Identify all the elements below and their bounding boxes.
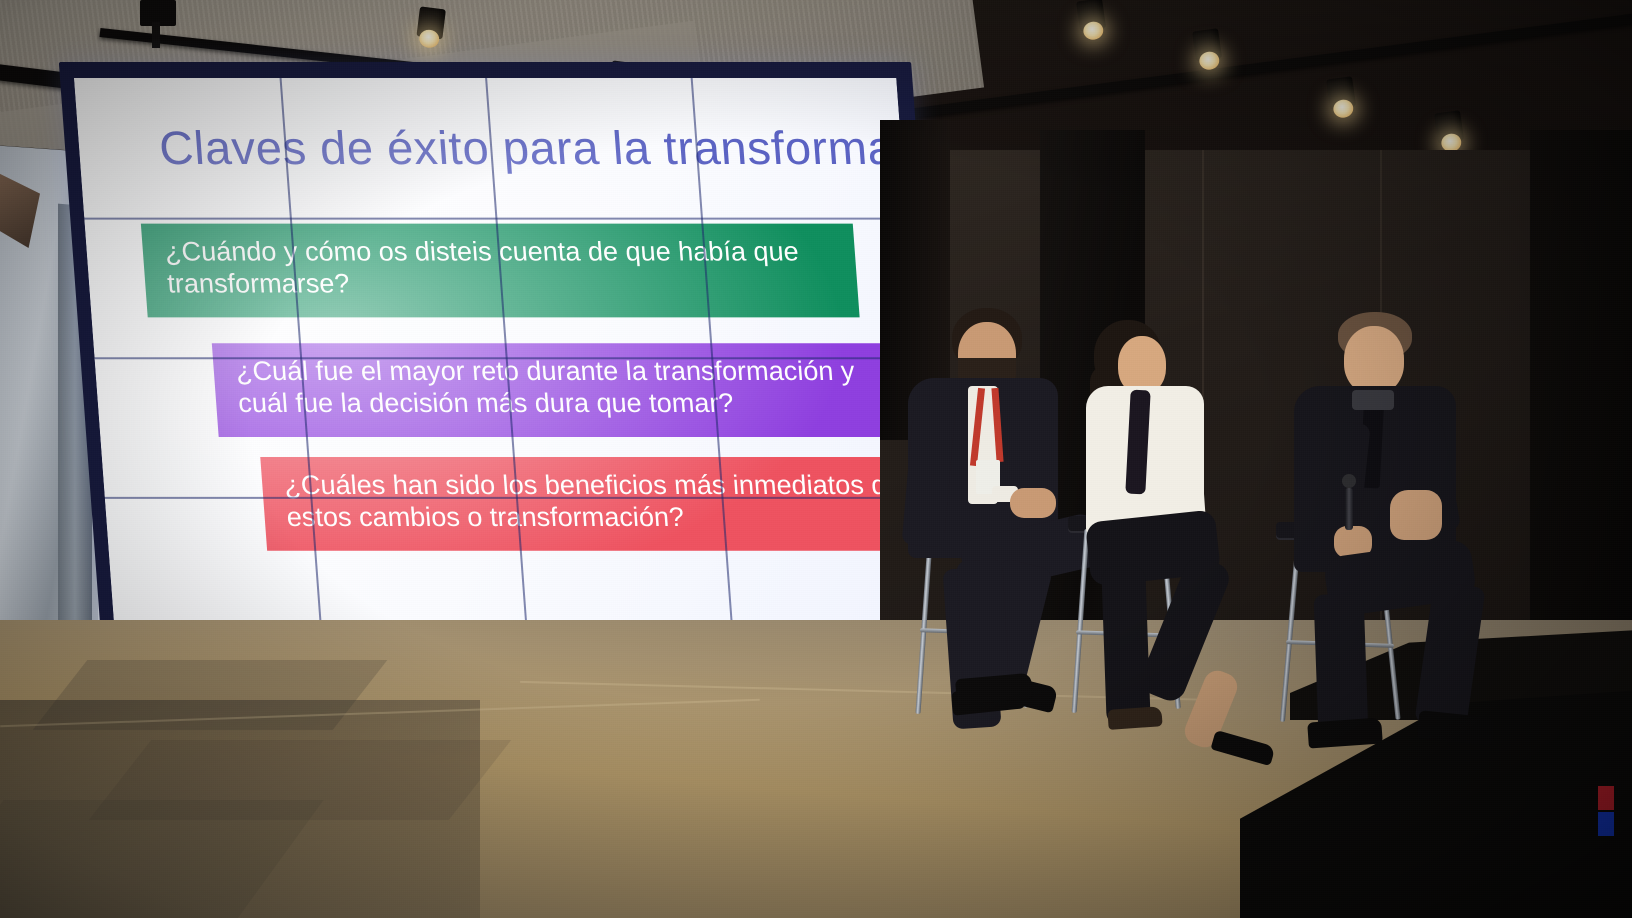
wall-panel — [692, 78, 906, 216]
panelist-right-face — [1344, 326, 1404, 394]
mic-capsule — [1342, 474, 1356, 488]
mic-body — [1345, 488, 1353, 530]
conference-photo-scene: Claves de éxito para la transformación ¿… — [0, 0, 1632, 918]
camera-mount-arm — [152, 22, 160, 48]
spotlight-01 — [416, 6, 445, 39]
wall-panel — [301, 358, 515, 496]
wall-panel — [280, 78, 494, 216]
panelist-center-arm — [1152, 405, 1206, 528]
wall-panel — [105, 498, 319, 636]
panelist-right-gesturing-hand — [1390, 490, 1442, 540]
panelist-left-hands — [1010, 488, 1056, 518]
wall-panel — [95, 358, 309, 496]
panelist-right-leg-down — [1314, 593, 1369, 737]
panelist-center-leg-down — [1101, 565, 1151, 726]
red-indicator-icon — [1598, 786, 1614, 810]
wall-panel — [507, 358, 721, 496]
panelist-right-collar — [1352, 390, 1394, 410]
panelist-right-shoe-floor — [1307, 717, 1383, 748]
panelist-center-shoe — [1107, 706, 1162, 730]
video-wall: Claves de éxito para la transformación ¿… — [74, 78, 939, 656]
wall-panel — [311, 498, 525, 636]
wall-panel — [517, 498, 731, 636]
wall-panel — [486, 78, 700, 216]
wall-pillar-far — [1530, 130, 1632, 690]
microphone-icon — [1342, 474, 1356, 530]
spotlight-09 — [1326, 76, 1356, 109]
wall-panel — [84, 218, 298, 356]
blue-indicator-icon — [1598, 812, 1614, 836]
spotlight-07 — [1076, 0, 1106, 32]
wall-panel — [290, 218, 504, 356]
video-wall-panel-grid: Claves de éxito para la transformación ¿… — [74, 78, 937, 636]
wall-panel — [74, 78, 288, 216]
wall-panel — [496, 218, 710, 356]
spotlight-08 — [1192, 28, 1222, 61]
spotlight-10 — [1434, 110, 1464, 143]
